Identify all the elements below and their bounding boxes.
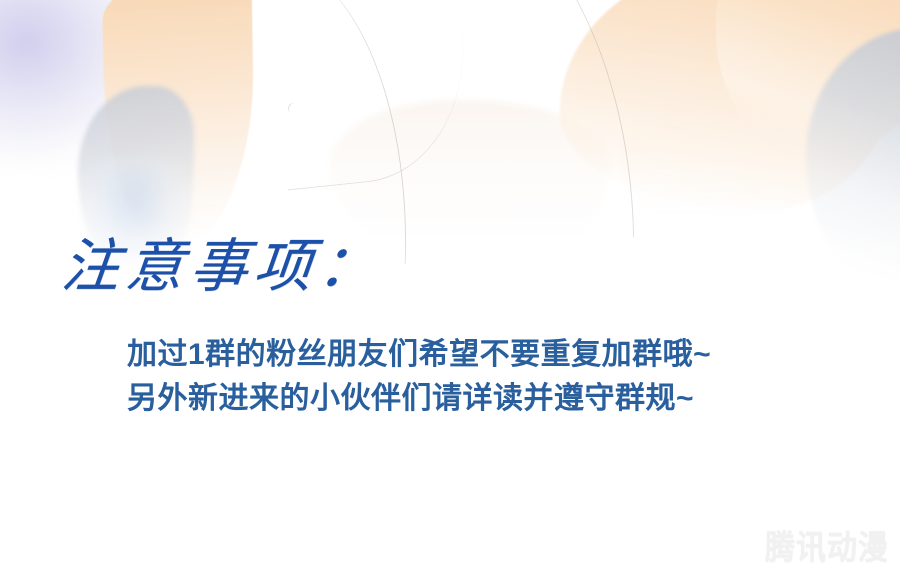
artwork-crease-detail: [287, 102, 303, 116]
artwork-outline-center: [327, 0, 634, 243]
notice-title: 注意事项：: [59, 236, 385, 297]
artwork-peach-left: [102, 0, 256, 257]
artwork-peach-right: [716, 0, 900, 160]
artwork-lavender-glow: [0, 0, 170, 170]
comic-panel: 注意事项： 加过1群的粉丝朋友们希望不要重复加群哦~ 另外新进来的小伙伴们请详读…: [0, 0, 900, 579]
watermark: 腾讯动漫: [765, 530, 887, 564]
artwork-outline-left: [145, 0, 416, 264]
artwork-peach-mid: [560, 0, 890, 210]
artwork-outline-right: [705, 0, 900, 205]
notice-body: 加过1群的粉丝朋友们希望不要重复加群哦~ 另外新进来的小伙伴们请详读并遵守群规~: [127, 333, 807, 421]
watermark-label: 腾讯动漫: [765, 530, 887, 564]
artwork-crease-line: [273, 30, 477, 190]
artwork-soft-right: [620, 90, 820, 240]
artwork-grey-right: [806, 28, 900, 278]
notice-line-1: 加过1群的粉丝朋友们希望不要重复加群哦~: [127, 333, 807, 377]
notice-line-2: 另外新进来的小伙伴们请详读并遵守群规~: [127, 377, 807, 421]
